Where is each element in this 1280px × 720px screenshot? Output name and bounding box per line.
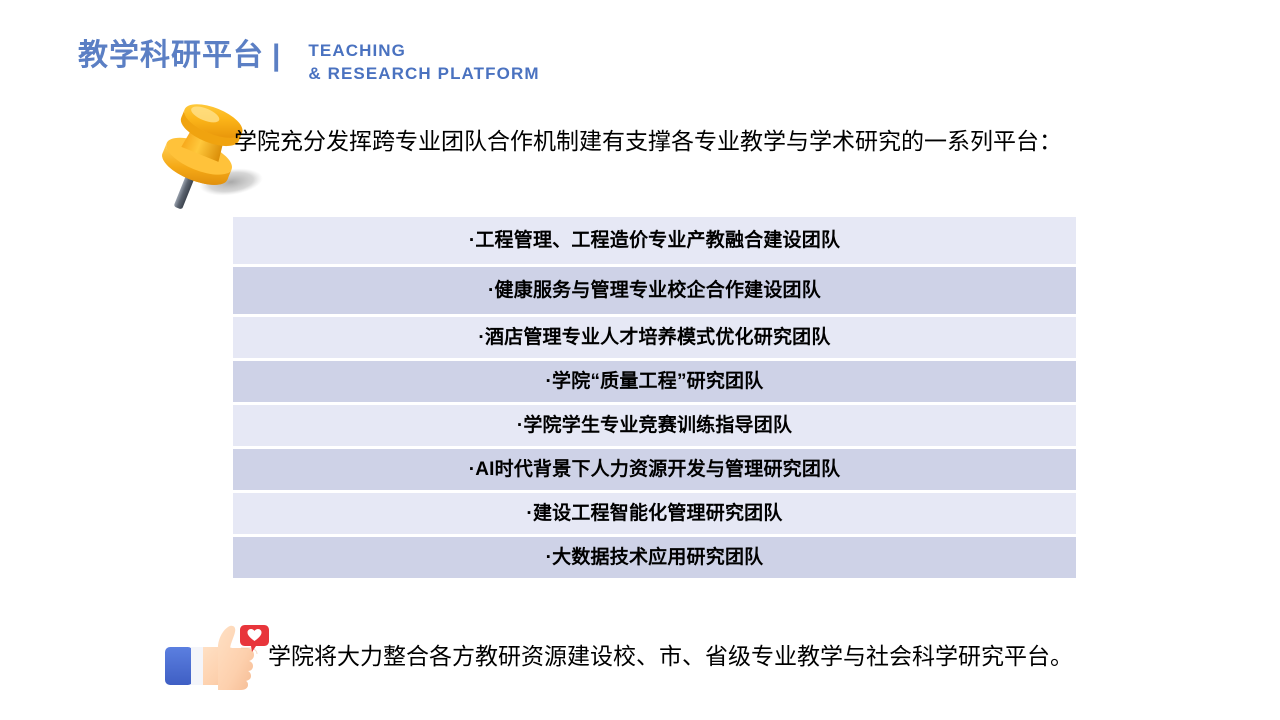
intro-paragraph: 学院充分发挥跨专业团队合作机制建有支撑各专业教学与学术研究的一系列平台：: [234, 124, 1062, 158]
team-list-item[interactable]: ·学院学生专业竞赛训练指导团队: [233, 405, 1076, 446]
page-header: 教学科研平台 | TEACHING & RESEARCH PLATFORM: [78, 36, 540, 85]
team-list-item[interactable]: ·健康服务与管理专业校企合作建设团队: [233, 267, 1076, 314]
team-list-item[interactable]: ·AI时代背景下人力资源开发与管理研究团队: [233, 449, 1076, 490]
team-list: ·工程管理、工程造价专业产教融合建设团队 ·健康服务与管理专业校企合作建设团队 …: [233, 217, 1076, 581]
team-list-item[interactable]: ·建设工程智能化管理研究团队: [233, 493, 1076, 534]
team-list-item[interactable]: ·大数据技术应用研究团队: [233, 537, 1076, 578]
footer-paragraph: 学院将大力整合各方教研资源建设校、市、省级专业教学与社会科学研究平台。: [268, 639, 1073, 673]
thumbs-up-icon: [162, 617, 277, 699]
title-divider: |: [272, 36, 280, 76]
page-title: 教学科研平台: [78, 36, 264, 76]
team-list-item[interactable]: ·学院“质量工程”研究团队: [233, 361, 1076, 402]
pushpin-icon: [138, 104, 268, 214]
team-list-item[interactable]: ·酒店管理专业人才培养模式优化研究团队: [233, 317, 1076, 358]
page-subtitle-line2: & RESEARCH PLATFORM: [308, 62, 539, 85]
team-list-item[interactable]: ·工程管理、工程造价专业产教融合建设团队: [233, 217, 1076, 264]
page-subtitle: TEACHING & RESEARCH PLATFORM: [308, 39, 539, 85]
page-subtitle-line1: TEACHING: [308, 39, 539, 62]
